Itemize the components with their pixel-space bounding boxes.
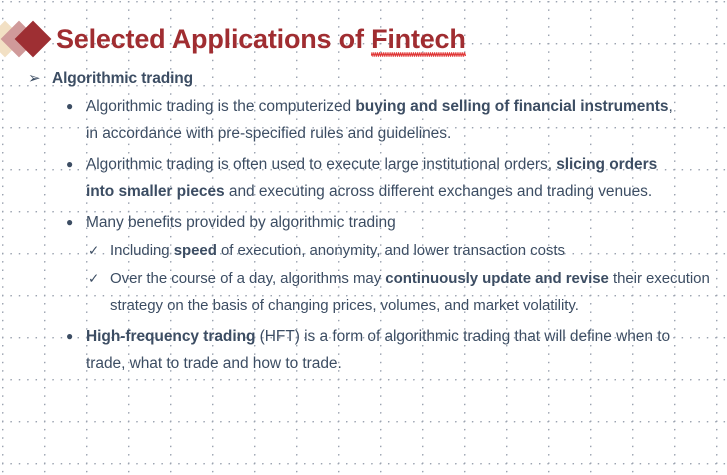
bullet-text-run: Including (110, 242, 174, 259)
round-bullet-icon: ● (66, 151, 86, 178)
bullet-text: Algorithmic trading is the computerized … (86, 93, 681, 147)
bullet-text-run: Algorithmic trading is the computerized (86, 98, 355, 115)
page-title: Selected Applications of Fintech (56, 26, 466, 53)
bullet-algorithmic-trading-heading[interactable]: ➢Algorithmic trading (0, 68, 727, 89)
round-bullet-icon: ● (66, 93, 86, 120)
bullet-text: Algorithmic trading (52, 68, 727, 89)
bullet-text: Algorithmic trading is often used to exe… (86, 151, 681, 205)
bullet-text: Over the course of a day, algorithms may… (110, 265, 710, 319)
slide-title-row: Selected Applications of Fintech (0, 18, 466, 60)
slide-body-list: ➢Algorithmic trading●Algorithmic trading… (0, 68, 727, 377)
bullet-benefit-continuous-update[interactable]: ✓Over the course of a day, algorithms ma… (0, 265, 727, 319)
spellcheck-squiggle-icon (371, 52, 466, 57)
bullet-text-emphasis: Algorithmic trading (52, 70, 193, 87)
bullet-text-run: Algorithmic trading is often used to exe… (86, 156, 556, 173)
diamond-logo (0, 19, 56, 59)
bullet-many-benefits[interactable]: ●Many benefits provided by algorithmic t… (0, 209, 727, 236)
bullet-text-run: Many benefits provided by algorithmic tr… (86, 214, 396, 231)
bullet-text-run: Over the course of a day, algorithms may (110, 270, 385, 287)
page-title-misspelled-word: Fintech (371, 26, 466, 53)
bullet-text-emphasis: speed (174, 242, 217, 259)
round-bullet-icon: ● (66, 323, 86, 350)
bullet-text-emphasis: continuously update and revise (385, 270, 609, 287)
check-bullet-icon: ✓ (88, 265, 110, 292)
bullet-institutional-orders[interactable]: ●Algorithmic trading is often used to ex… (0, 151, 727, 205)
page-title-text: Selected Applications of (56, 24, 371, 54)
check-bullet-icon: ✓ (88, 237, 110, 264)
bullet-text: High-frequency trading (HFT) is a form o… (86, 323, 681, 377)
arrow-bullet-icon: ➢ (28, 68, 52, 89)
bullet-definition[interactable]: ●Algorithmic trading is the computerized… (0, 93, 727, 147)
bullet-high-frequency-trading[interactable]: ●High-frequency trading (HFT) is a form … (0, 323, 727, 377)
round-bullet-icon: ● (66, 209, 86, 236)
bullet-text-emphasis: buying and selling of financial instrume… (355, 98, 668, 115)
bullet-text: Many benefits provided by algorithmic tr… (86, 209, 681, 236)
bullet-text-run: of execution, anonymity, and lower trans… (217, 242, 565, 259)
bullet-text-run: and executing across different exchanges… (225, 183, 653, 200)
presentation-slide: Selected Applications of Fintech ➢Algori… (0, 0, 727, 475)
bullet-text: Including speed of execution, anonymity,… (110, 237, 710, 264)
bullet-text-emphasis: High-frequency trading (86, 328, 255, 345)
bullet-benefit-speed[interactable]: ✓Including speed of execution, anonymity… (0, 237, 727, 264)
